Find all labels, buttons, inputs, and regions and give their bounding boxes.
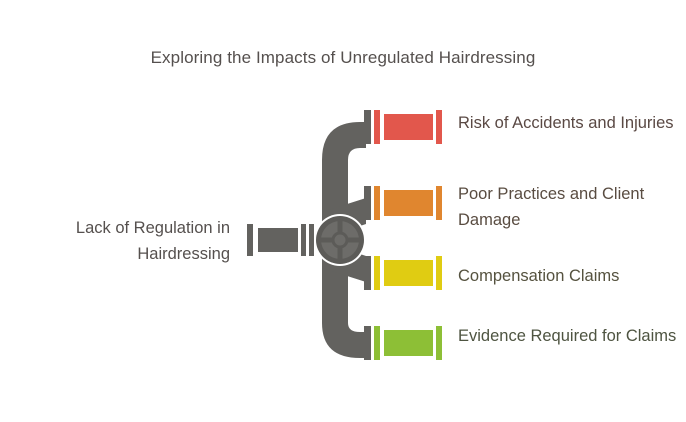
inlet-pipe-group — [247, 224, 314, 256]
branch-1-color-ring — [374, 110, 380, 144]
branch-pipe-1[interactable] — [364, 110, 442, 144]
branch-2-body — [384, 190, 433, 216]
branch-label-4: Evidence Required for Claims — [458, 323, 678, 349]
branch-pipe-2[interactable] — [364, 186, 442, 220]
branch-4-end-cap — [436, 326, 442, 360]
inlet-end-flange — [247, 224, 253, 256]
branch-4-color-ring — [374, 326, 380, 360]
branch-3-body — [384, 260, 433, 286]
branch-3-end-cap — [436, 256, 442, 290]
branch-pipe-3[interactable] — [364, 256, 442, 290]
branch-pipe-4[interactable] — [364, 326, 442, 360]
valve-hub-center — [333, 233, 347, 247]
branch-4-gray-flange — [364, 326, 371, 360]
branch-1-gray-flange — [364, 110, 371, 144]
branch-2-end-cap — [436, 186, 442, 220]
inlet-body — [258, 228, 298, 252]
branch-2-gray-flange — [364, 186, 371, 220]
branch-3-gray-flange — [364, 256, 371, 290]
inlet-flange-a — [301, 224, 306, 256]
branch-1-body — [384, 114, 433, 140]
branch-2-color-ring — [374, 186, 380, 220]
branch-4-body — [384, 330, 433, 356]
branch-label-1: Risk of Accidents and Injuries — [458, 110, 678, 136]
inlet-flange-b — [309, 224, 314, 256]
diagram-canvas: Exploring the Impacts of Unregulated Hai… — [0, 0, 686, 422]
branch-label-3: Compensation Claims — [458, 263, 678, 289]
branch-1-end-cap — [436, 110, 442, 144]
valve-wheel-group[interactable] — [314, 214, 366, 266]
branch-3-color-ring — [374, 256, 380, 290]
branch-label-2: Poor Practices and Client Damage — [458, 181, 678, 233]
